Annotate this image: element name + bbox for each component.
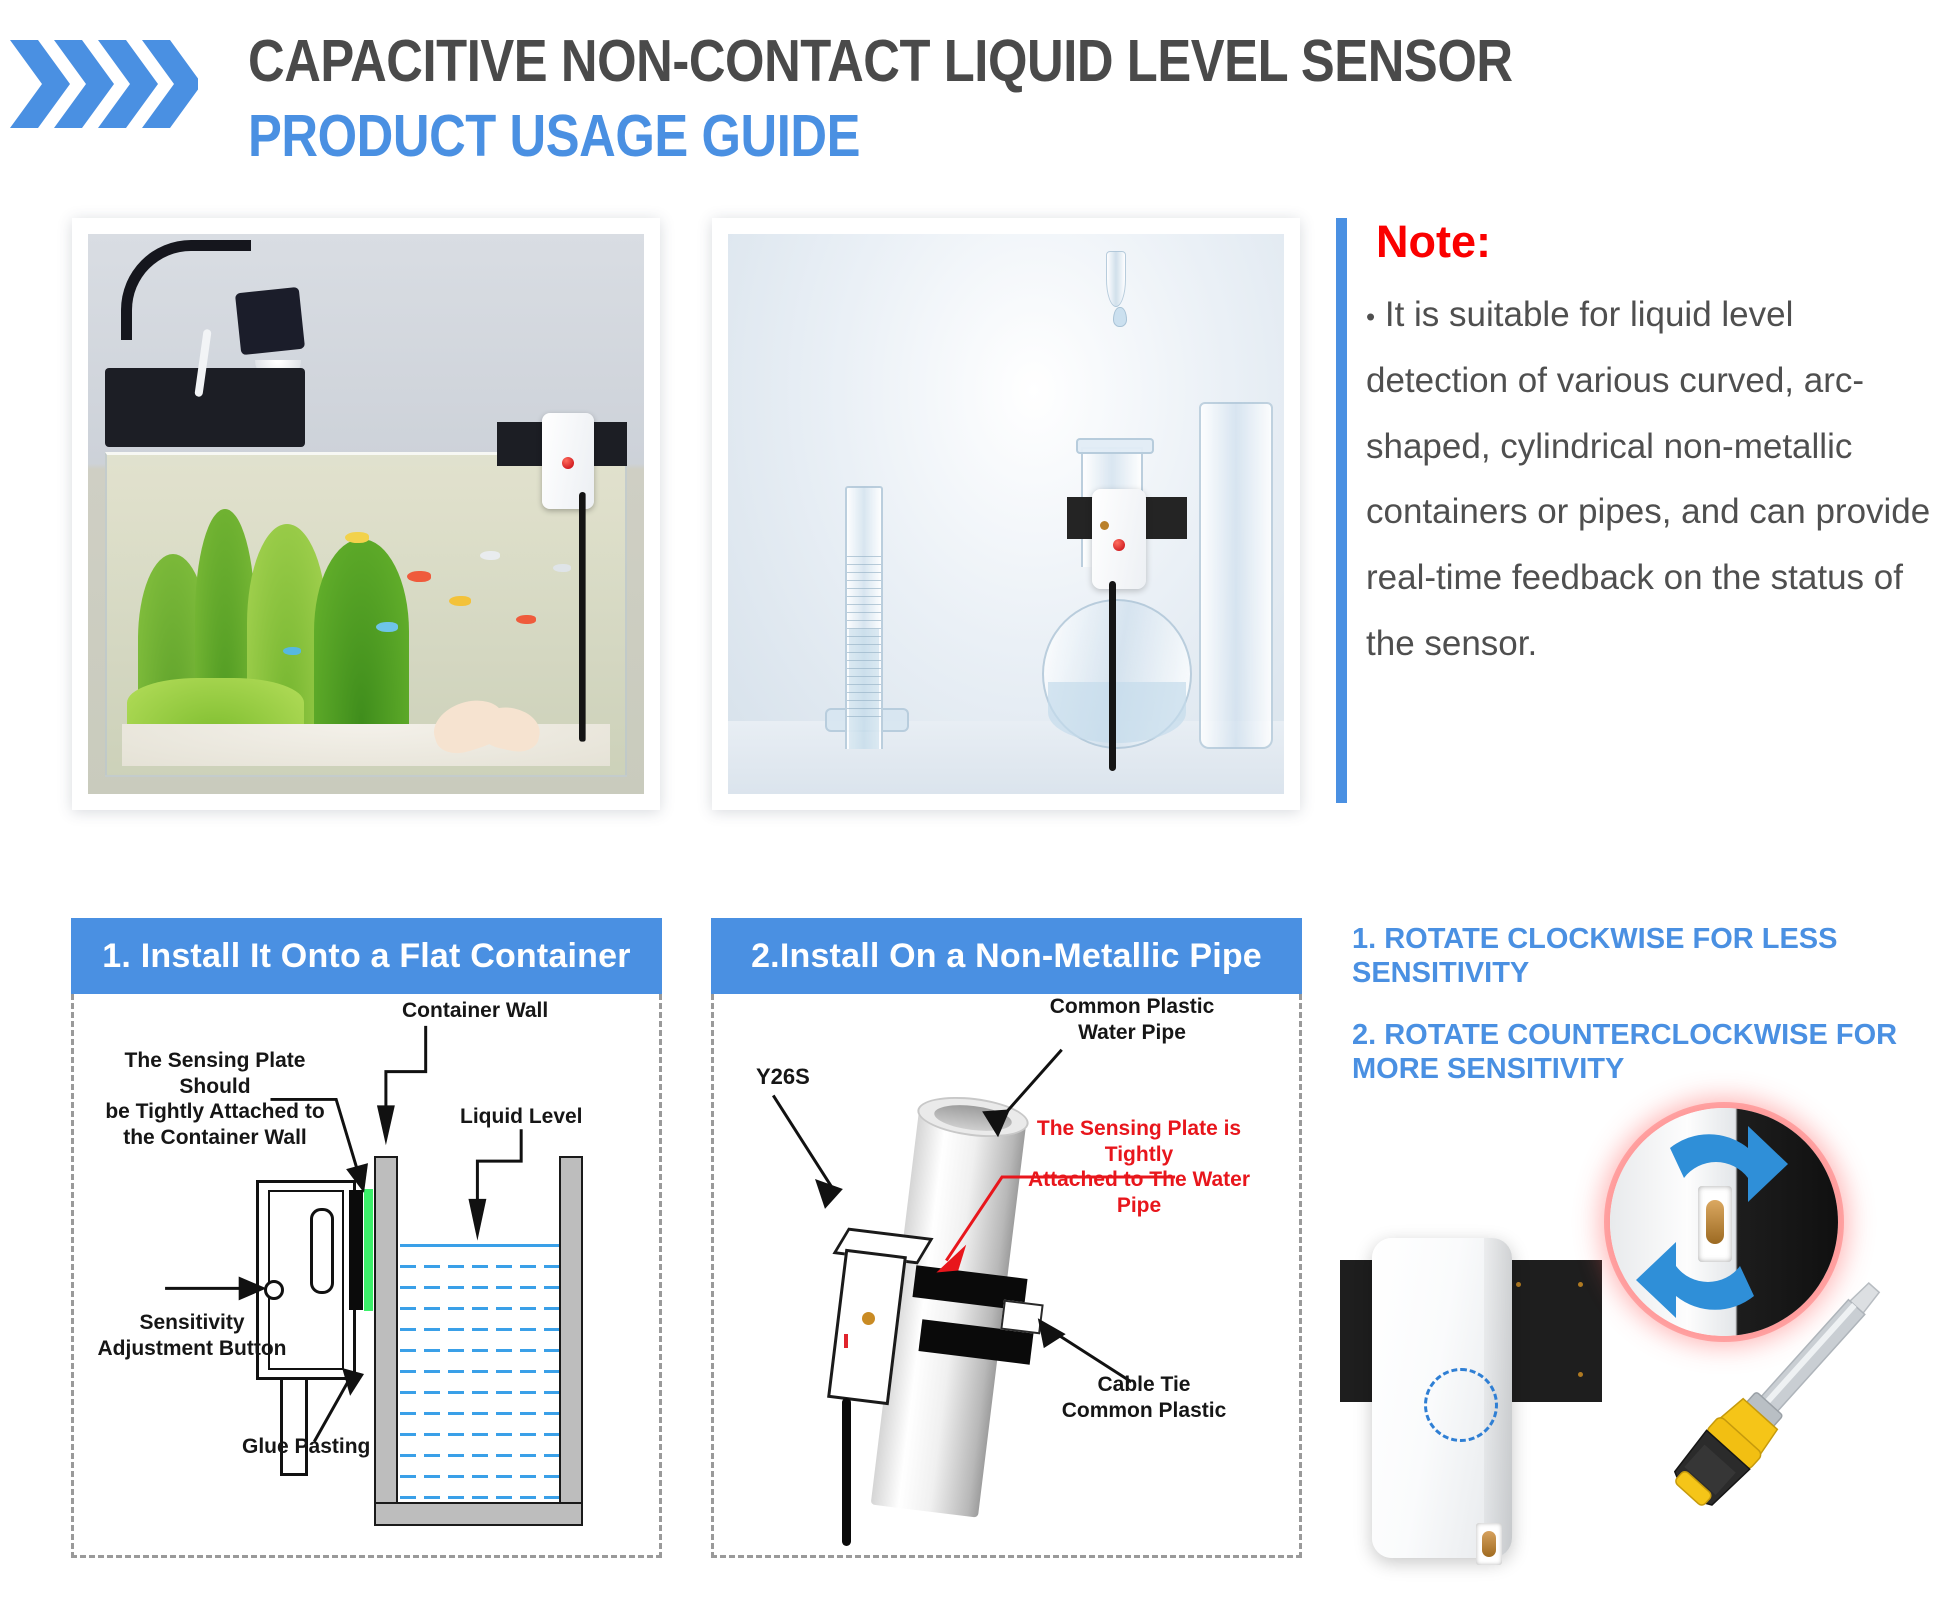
liquid-surface — [400, 1244, 559, 1247]
fish — [553, 564, 571, 572]
volumetric-flask-bulb — [1042, 599, 1192, 749]
liquid-fill — [400, 1244, 559, 1502]
step-1-heading: 1. Install It Onto a Flat Container — [102, 937, 630, 976]
note-panel: Note: • It is suitable for liquid level … — [1336, 218, 1936, 818]
container-wall-right — [559, 1156, 583, 1526]
cylinder-graduations — [847, 556, 881, 718]
title-main-line: CAPACITIVE NON-CONTACT LIQUID LEVEL SENS… — [248, 32, 1513, 91]
adjustment-slot — [1476, 1523, 1502, 1565]
step-2-header: 2.Install On a Non-Metallic Pipe — [711, 918, 1302, 994]
fish — [345, 532, 369, 543]
fish — [480, 551, 500, 560]
note-body-text: It is suitable for liquid level detectio… — [1366, 295, 1930, 663]
usage-guide-page: CAPACITIVE NON-CONTACT LIQUID LEVEL SENS… — [0, 0, 1940, 1601]
flask-liquid — [1048, 682, 1186, 743]
volumetric-flask-lip — [1076, 438, 1154, 454]
aquarium-filter — [105, 368, 305, 446]
aquarium-photo-card — [72, 218, 660, 810]
liquid-droplet — [1113, 307, 1127, 327]
page-header: CAPACITIVE NON-CONTACT LIQUID LEVEL SENS… — [0, 0, 1940, 180]
label-container-wall: Container Wall — [402, 998, 582, 1024]
step-2-diagram: Common Plastic Water Pipe Y26S The Sensi… — [711, 994, 1302, 1558]
label-model-y26s: Y26S — [756, 1064, 810, 1091]
led-indicator — [562, 457, 574, 469]
sensor-cable — [579, 492, 586, 742]
container-wall-left — [374, 1156, 398, 1526]
plate-screw-dot — [1578, 1372, 1583, 1377]
sensitivity-screw — [1100, 521, 1109, 530]
label-cable-tie: Cable Tie Common Plastic — [1044, 1372, 1244, 1423]
plate-screw-dot — [1516, 1282, 1521, 1287]
label-sensitivity-adjustment-button: Sensitivity Adjustment Button — [92, 1310, 292, 1361]
bullet-icon: • — [1366, 301, 1375, 331]
rotation-instruction-1: 1. ROTATE CLOCKWISE FOR LESS SENSITIVITY — [1352, 922, 1932, 990]
sensitivity-adjustment-screw[interactable] — [862, 1312, 875, 1325]
lab-glassware-photo — [728, 234, 1284, 794]
page-title: CAPACITIVE NON-CONTACT LIQUID LEVEL SENS… — [248, 32, 1718, 166]
fish — [407, 571, 431, 582]
tall-beaker — [1199, 402, 1273, 749]
pipette-icon — [1106, 251, 1126, 307]
led-indicator — [844, 1334, 848, 1348]
sensor-device — [542, 413, 594, 509]
lamp-head-icon — [235, 287, 305, 355]
fish — [283, 647, 301, 655]
label-sensing-plate: The Sensing Plate Should be Tightly Atta… — [100, 1048, 330, 1150]
label-glue-pasting: Glue Pasting — [242, 1434, 370, 1460]
sensor-device — [1092, 489, 1146, 589]
label-liquid-level: Liquid Level — [460, 1104, 583, 1130]
sensitivity-adjustment-knob[interactable] — [264, 1280, 284, 1300]
label-common-plastic-water-pipe: Common Plastic Water Pipe — [1032, 994, 1232, 1045]
sensor-capsule — [310, 1208, 334, 1294]
fish — [449, 596, 471, 606]
note-title: Note: — [1376, 216, 1491, 268]
note-body: • It is suitable for liquid level detect… — [1366, 282, 1931, 677]
step-1-diagram: Container Wall The Sensing Plate Should … — [71, 994, 662, 1558]
graduated-cylinder — [845, 486, 883, 749]
step-2-heading: 2.Install On a Non-Metallic Pipe — [751, 937, 1262, 976]
step-1-header: 1. Install It Onto a Flat Container — [71, 918, 662, 994]
sensitivity-adjustment-screw[interactable] — [1482, 1531, 1496, 1557]
screwdriver-icon — [1656, 1246, 1906, 1536]
container-wall-bottom — [374, 1502, 583, 1526]
sensor-cable — [1109, 581, 1116, 771]
aquatic-plant — [314, 539, 409, 724]
step-2-panel: 2.Install On a Non-Metallic Pipe — [711, 918, 1302, 1558]
sensor-stem — [280, 1380, 308, 1476]
cable-tie-clip — [1000, 1300, 1043, 1335]
fish — [516, 615, 536, 624]
adjustment-highlight-circle — [1424, 1368, 1498, 1442]
sensor-adjustment-illustration — [1340, 1100, 1940, 1570]
rotation-instruction-2: 2. ROTATE COUNTERCLOCKWISE FOR MORE SENS… — [1352, 1018, 1932, 1086]
label-sensing-plate-attached: The Sensing Plate is Tightly Attached to… — [1004, 1116, 1274, 1218]
fish — [376, 622, 398, 632]
led-indicator — [1113, 539, 1125, 551]
plate-screw-dot — [1578, 1282, 1583, 1287]
title-sub-line: PRODUCT USAGE GUIDE — [248, 107, 1513, 166]
aquarium-photo — [88, 234, 644, 794]
sensing-plate — [349, 1190, 363, 1310]
chevron-right-icon — [8, 36, 198, 132]
note-accent-bar — [1336, 218, 1347, 803]
step-1-panel: 1. Install It Onto a Flat Container — [71, 918, 662, 1558]
lab-glassware-photo-card — [712, 218, 1300, 810]
sensor-cable — [842, 1398, 851, 1546]
glue-strip — [364, 1189, 373, 1311]
